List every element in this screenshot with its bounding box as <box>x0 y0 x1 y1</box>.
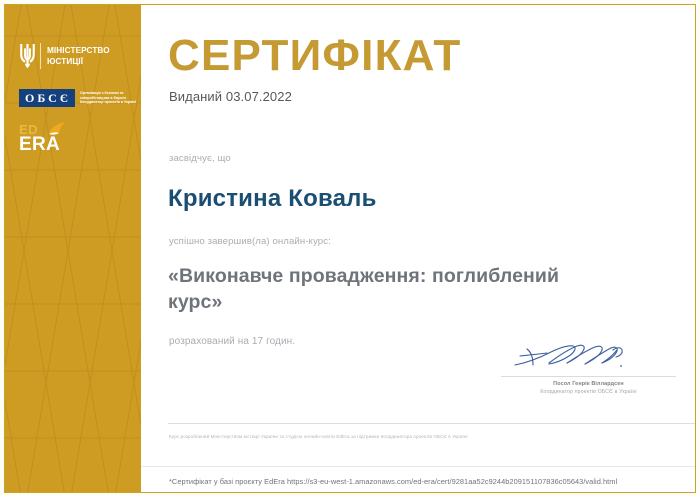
triangle-lattice-pattern <box>5 5 141 492</box>
footer-rule <box>168 423 696 424</box>
osce-mark-text: ОБСЄ <box>19 89 75 107</box>
edera-flame-icon <box>45 121 67 137</box>
signature-rule <box>501 376 676 377</box>
handwritten-signature-icon <box>501 341 676 375</box>
footer-divider <box>141 466 695 467</box>
certificate-title: СЕРТИФІКАТ <box>168 32 462 80</box>
recipient-name: Кристина Коваль <box>168 185 377 213</box>
footer-note: Курс розроблений Міністерством юстиції У… <box>169 434 468 439</box>
signature-block: Посол Генрік Віллардсен Координатор прое… <box>501 341 676 395</box>
logo-ministry-of-justice: МІНІСТЕРСТВО ЮСТИЦІЇ <box>19 43 110 69</box>
verification-url-line[interactable]: *Сертифікат у базі проєкту EdEra https:/… <box>169 477 617 486</box>
course-hours: розрахований на 17 годин. <box>169 336 295 347</box>
certificate-page: МІНІСТЕРСТВО ЮСТИЦІЇ ОБСЄ Організація з … <box>0 0 700 497</box>
issued-date: Виданий 03.07.2022 <box>169 89 292 104</box>
sidebar-gold-panel <box>5 5 141 492</box>
label-certifies: засвідчує, що <box>169 153 231 164</box>
course-title: «Виконавче провадження: поглиблений курс… <box>168 263 568 315</box>
osce-subtext: Організація з безпеки та співробітництва… <box>80 91 136 105</box>
logo-edera: ED ERA <box>19 123 60 154</box>
certificate-body: СЕРТИФІКАТ Виданий 03.07.2022 засвідчує,… <box>141 5 695 492</box>
certificate-card: МІНІСТЕРСТВО ЮСТИЦІЇ ОБСЄ Організація з … <box>4 4 696 493</box>
ministry-logo-text: МІНІСТЕРСТВО ЮСТИЦІЇ <box>47 45 110 67</box>
edera-era-text: ERA <box>19 135 60 154</box>
ukraine-tryzub-icon <box>19 43 36 69</box>
signatory-name: Посол Генрік Віллардсен <box>501 381 676 387</box>
label-completed-course: успішно завершив(ла) онлайн-курс: <box>169 236 331 247</box>
logo-osce: ОБСЄ Організація з безпеки та співробітн… <box>19 89 136 107</box>
signatory-role: Координатор проектів ОБСЄ в Україні <box>501 389 676 395</box>
logo-divider <box>40 43 41 69</box>
